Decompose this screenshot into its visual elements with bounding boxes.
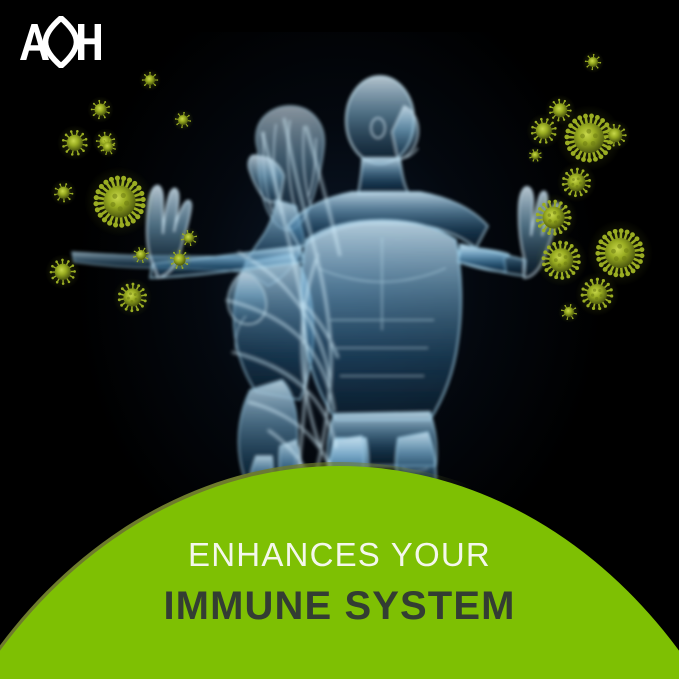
virus-particle xyxy=(544,150,609,215)
virus-particle xyxy=(132,62,168,98)
caption-line-1: ENHANCES YOUR xyxy=(0,534,679,576)
energy-strands xyxy=(226,118,340,492)
virus-particle xyxy=(84,120,127,163)
virus-particle xyxy=(158,238,201,281)
caption-block: ENHANCES YOUR IMMUNE SYSTEM xyxy=(0,534,679,632)
virus-particle xyxy=(566,199,674,307)
virus-particle xyxy=(171,220,207,256)
virus-particle xyxy=(62,144,177,259)
virus-particle xyxy=(165,102,201,138)
virus-particle xyxy=(561,258,633,330)
virus-particle xyxy=(535,85,585,135)
virus-particle xyxy=(551,294,587,330)
virus-particle xyxy=(46,114,104,172)
aoh-logo[interactable] xyxy=(16,16,102,68)
virus-particle xyxy=(42,171,85,214)
virus-particle xyxy=(515,102,573,160)
virus-particle xyxy=(518,217,604,303)
caption-line-2: IMMUNE SYSTEM xyxy=(0,580,679,632)
virus-particle xyxy=(521,141,550,170)
virus-particle xyxy=(514,178,593,257)
virus-particle xyxy=(535,84,643,192)
virus-particle xyxy=(575,44,611,80)
virus-particle xyxy=(123,237,159,273)
aoh-logo-mark xyxy=(16,16,102,68)
virus-particle xyxy=(590,110,640,160)
virus-particle xyxy=(79,88,122,131)
virus-particle xyxy=(100,265,165,330)
virus-particle xyxy=(34,243,92,301)
immune-system-banner: ENHANCES YOUR IMMUNE SYSTEM xyxy=(0,0,679,679)
virus-particle xyxy=(90,129,126,165)
